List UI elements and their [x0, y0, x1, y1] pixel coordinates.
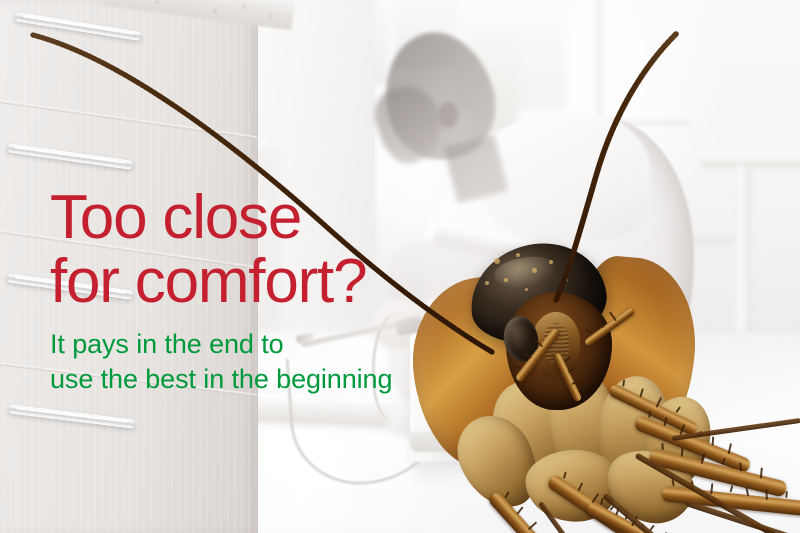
chrome-bar-handle	[8, 404, 136, 429]
headline: Too close for comfort?	[50, 186, 392, 315]
chrome-bar-handle	[6, 143, 134, 170]
leg-spine	[729, 485, 733, 492]
leg-spine	[760, 467, 763, 478]
leg-spine	[727, 443, 731, 454]
leg-spine	[785, 491, 788, 498]
drawer-seam	[0, 100, 257, 139]
leg-spine	[661, 443, 663, 450]
giant-cockroach-foreground	[400, 200, 800, 533]
technician-ear	[438, 102, 458, 128]
subheadline-line-2: use the best in the beginning	[50, 362, 392, 397]
pronotum-speck	[504, 278, 508, 282]
pronotum-speck	[549, 260, 553, 264]
subheadline: It pays in the end to use the best in th…	[50, 327, 392, 397]
pronotum-speck	[485, 281, 489, 285]
leg-spine	[528, 522, 538, 531]
ad-copy-block: Too close for comfort? It pays in the en…	[50, 186, 392, 397]
chrome-bar-handle	[14, 12, 142, 41]
pronotum-speck	[563, 277, 568, 282]
leg-spine	[516, 506, 523, 514]
pronotum-speck	[494, 258, 500, 264]
leg-spine	[712, 437, 715, 446]
advertisement-banner: Too close for comfort? It pays in the en…	[0, 0, 800, 533]
headline-line-1: Too close	[50, 183, 301, 252]
headline-line-2: for comfort?	[50, 250, 392, 314]
subheadline-line-1: It pays in the end to	[50, 329, 284, 359]
leg-spine	[710, 483, 713, 494]
